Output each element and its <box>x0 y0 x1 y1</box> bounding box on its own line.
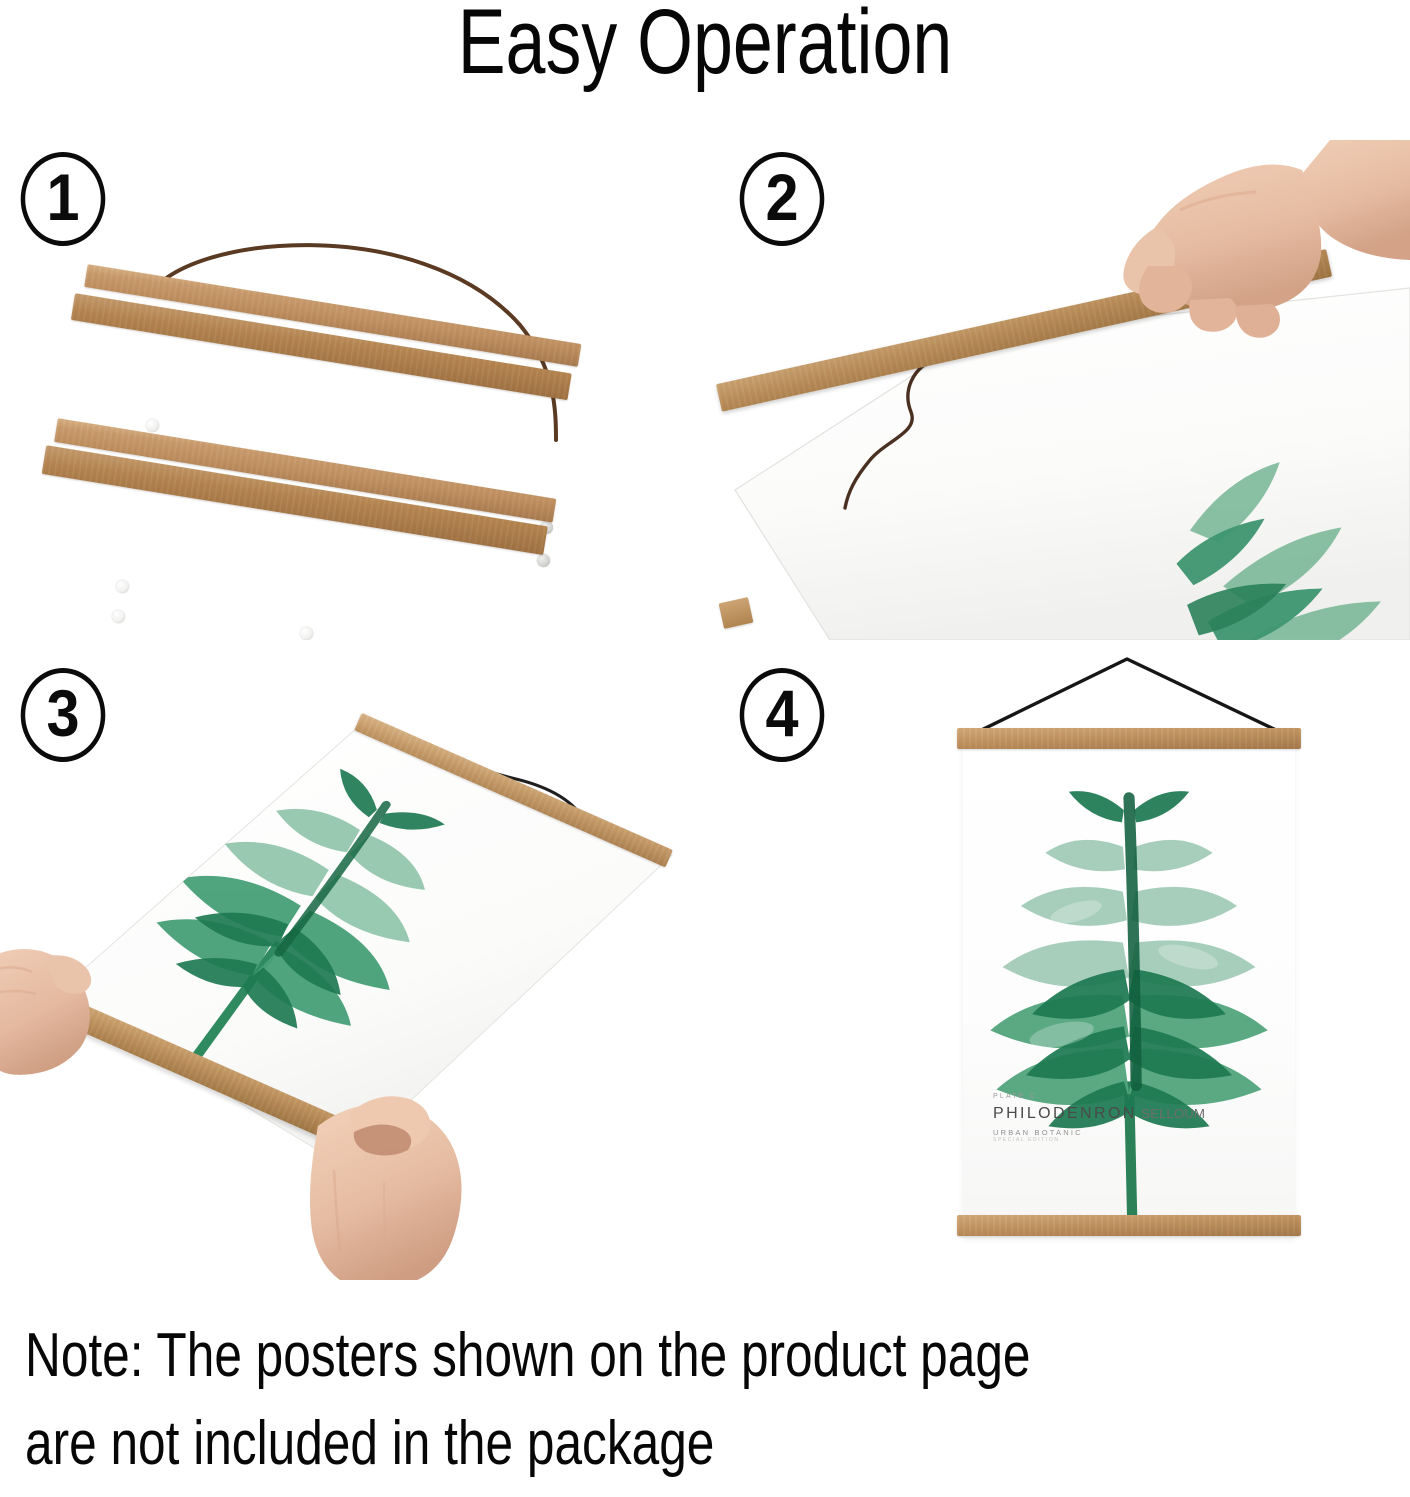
magnet-dot <box>146 419 159 432</box>
magnet-dot <box>112 610 125 623</box>
note-line-1: Note: The posters shown on the product p… <box>25 1312 1129 1400</box>
caption-edition: SPECIAL EDITION <box>993 1137 1205 1143</box>
caption-plate: PLATE C <box>993 1093 1205 1100</box>
poster-leaf-artwork <box>963 760 1295 1230</box>
wood-grain <box>957 728 1301 749</box>
instruction-infographic: Easy Operation 1 <box>0 0 1410 1497</box>
step-1-panel: 1 <box>0 140 705 640</box>
hand-holding-rail <box>1030 140 1410 470</box>
hand-right-holding-rail <box>288 1078 548 1280</box>
page-title: Easy Operation <box>155 0 1255 88</box>
magnet-dot <box>537 554 550 567</box>
hand-left-holding-rail <box>0 930 142 1120</box>
note-line-2: are not included in the package <box>25 1400 1129 1488</box>
magnet-dot <box>300 627 313 640</box>
caption-species: SELLOUM <box>1141 1106 1205 1121</box>
magnet-dot <box>116 580 129 593</box>
bottom-rail <box>957 1215 1301 1236</box>
poster-caption: PLATE C PHILODENRON SELLOUM URBAN BOTANI… <box>993 1093 1205 1143</box>
caption-brand: URBAN BOTANIC <box>993 1128 1205 1137</box>
wood-grain <box>957 1215 1301 1236</box>
step-3-panel: 3 <box>0 640 705 1280</box>
note-text: Note: The posters shown on the product p… <box>25 1312 1405 1488</box>
top-rail <box>957 728 1301 749</box>
hanging-cord-arc <box>0 140 705 640</box>
caption-name: PHILODENRON <box>993 1105 1137 1122</box>
step-4-panel: 4 <box>705 640 1410 1280</box>
step-2-panel: 2 <box>705 140 1410 640</box>
